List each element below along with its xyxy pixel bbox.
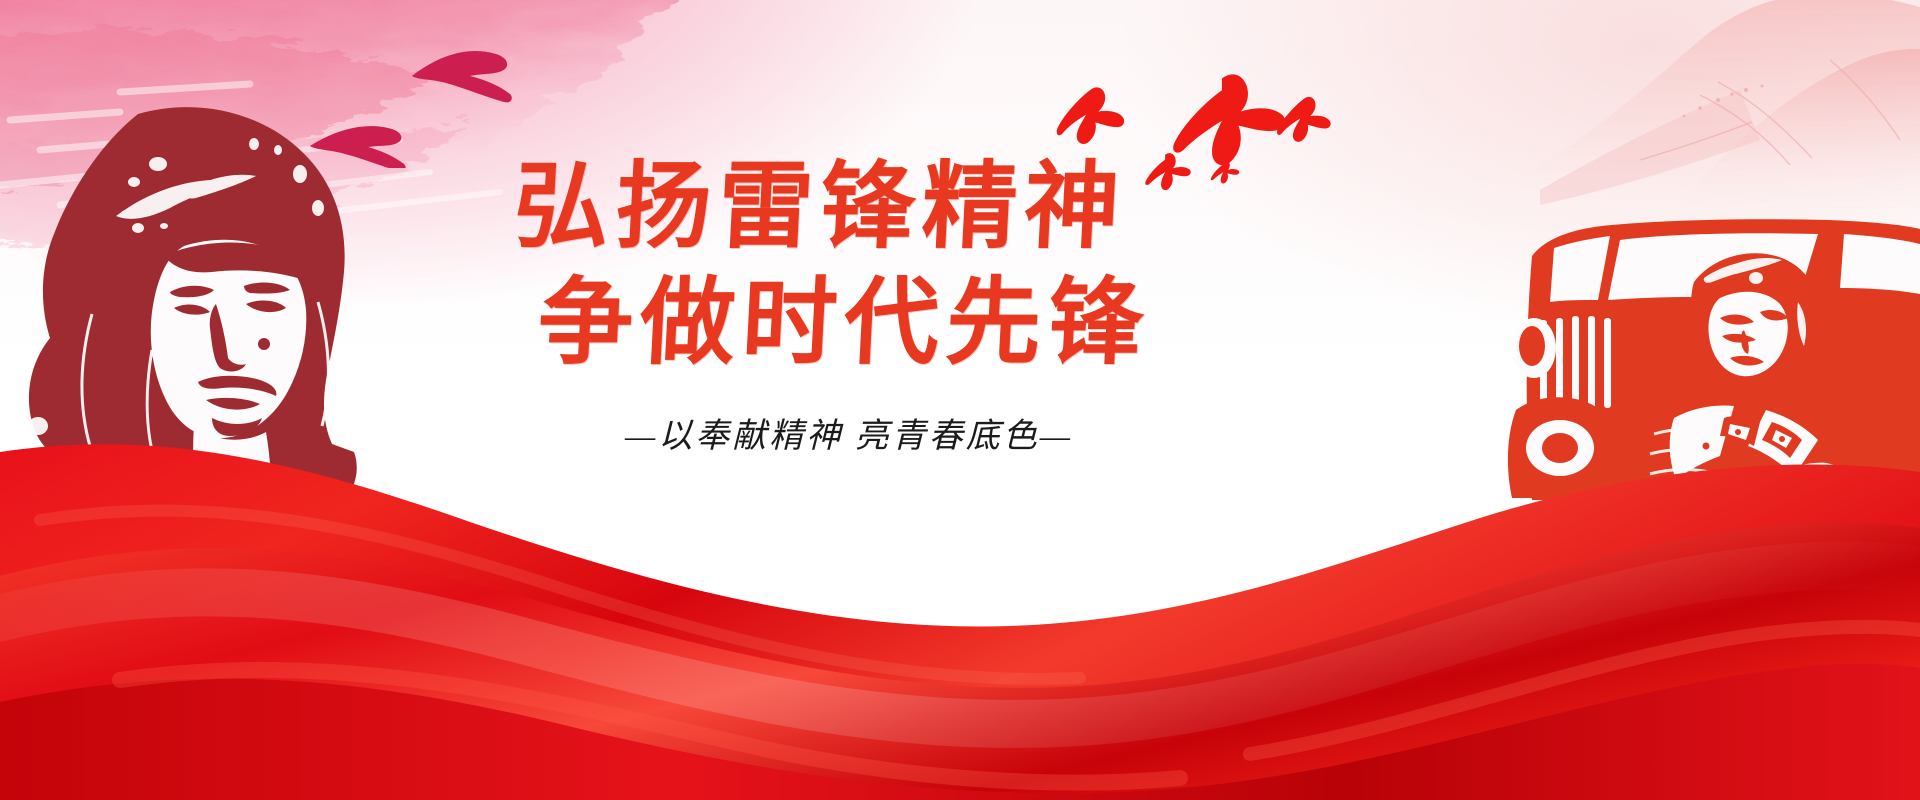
dove-icon <box>1277 97 1331 142</box>
dove-icon <box>1057 87 1124 144</box>
headline-subtitle: —以奉献精神 亮青春底色— <box>488 408 1210 457</box>
headline-line-1: 弘扬雷锋精神 <box>427 150 1213 266</box>
gull-icon <box>412 51 512 102</box>
dove-icon <box>1211 160 1239 183</box>
headline-line-2: 争做时代先锋 <box>475 266 1213 382</box>
headline-block: 弘扬雷锋精神 争做时代先锋 —以奉献精神 亮青春底色— <box>430 150 1210 457</box>
banner-root: 弘扬雷锋精神 争做时代先锋 —以奉献精神 亮青春底色— <box>0 0 1920 800</box>
